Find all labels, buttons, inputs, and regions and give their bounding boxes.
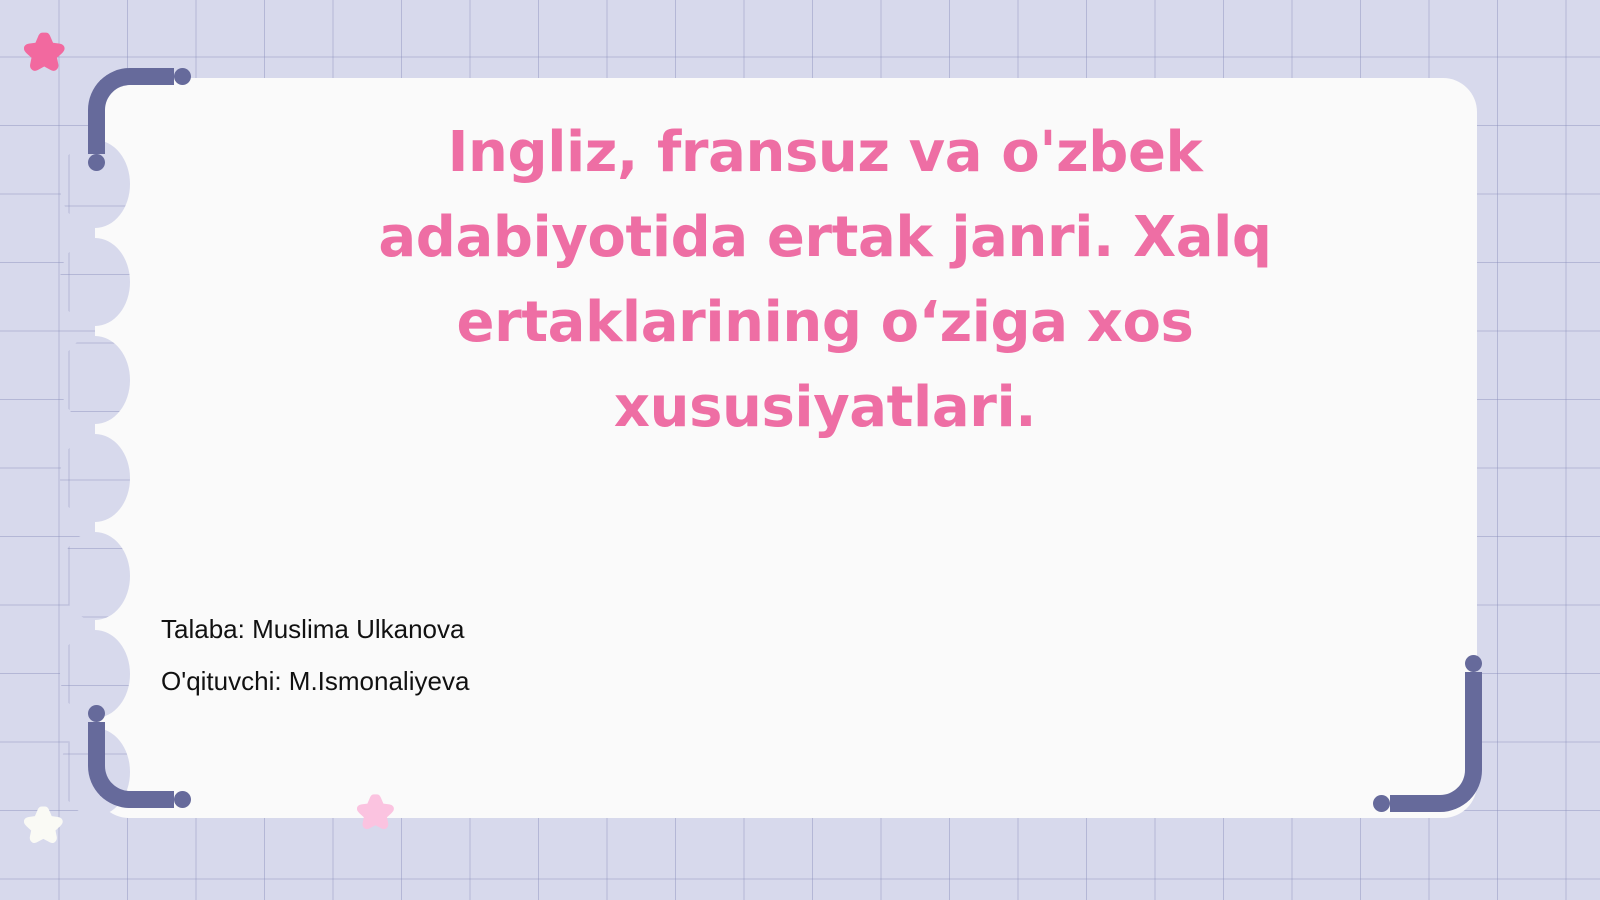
content-card: Ingliz, fransuz va o'zbek adabiyotida er… — [95, 78, 1477, 818]
star-icon — [357, 792, 397, 832]
slide-canvas: Ingliz, fransuz va o'zbek adabiyotida er… — [0, 0, 1600, 900]
scallop-notch — [60, 434, 130, 522]
scallop-notch — [60, 336, 130, 424]
corner-bracket-top-left — [88, 68, 174, 154]
scallop-notch — [60, 238, 130, 326]
scallop-notch — [60, 532, 130, 620]
byline-student: Talaba: Muslima Ulkanova — [161, 603, 981, 655]
star-icon — [24, 30, 68, 74]
byline-teacher: O'qituvchi: M.Ismonaliyeva — [161, 655, 981, 707]
slide-title: Ingliz, fransuz va o'zbek adabiyotida er… — [325, 110, 1325, 450]
star-icon — [24, 804, 66, 846]
corner-bracket-bottom-left — [88, 722, 174, 808]
corner-bracket-bottom-right — [1390, 672, 1482, 812]
byline-block: Talaba: Muslima Ulkanova O'qituvchi: M.I… — [161, 603, 981, 707]
